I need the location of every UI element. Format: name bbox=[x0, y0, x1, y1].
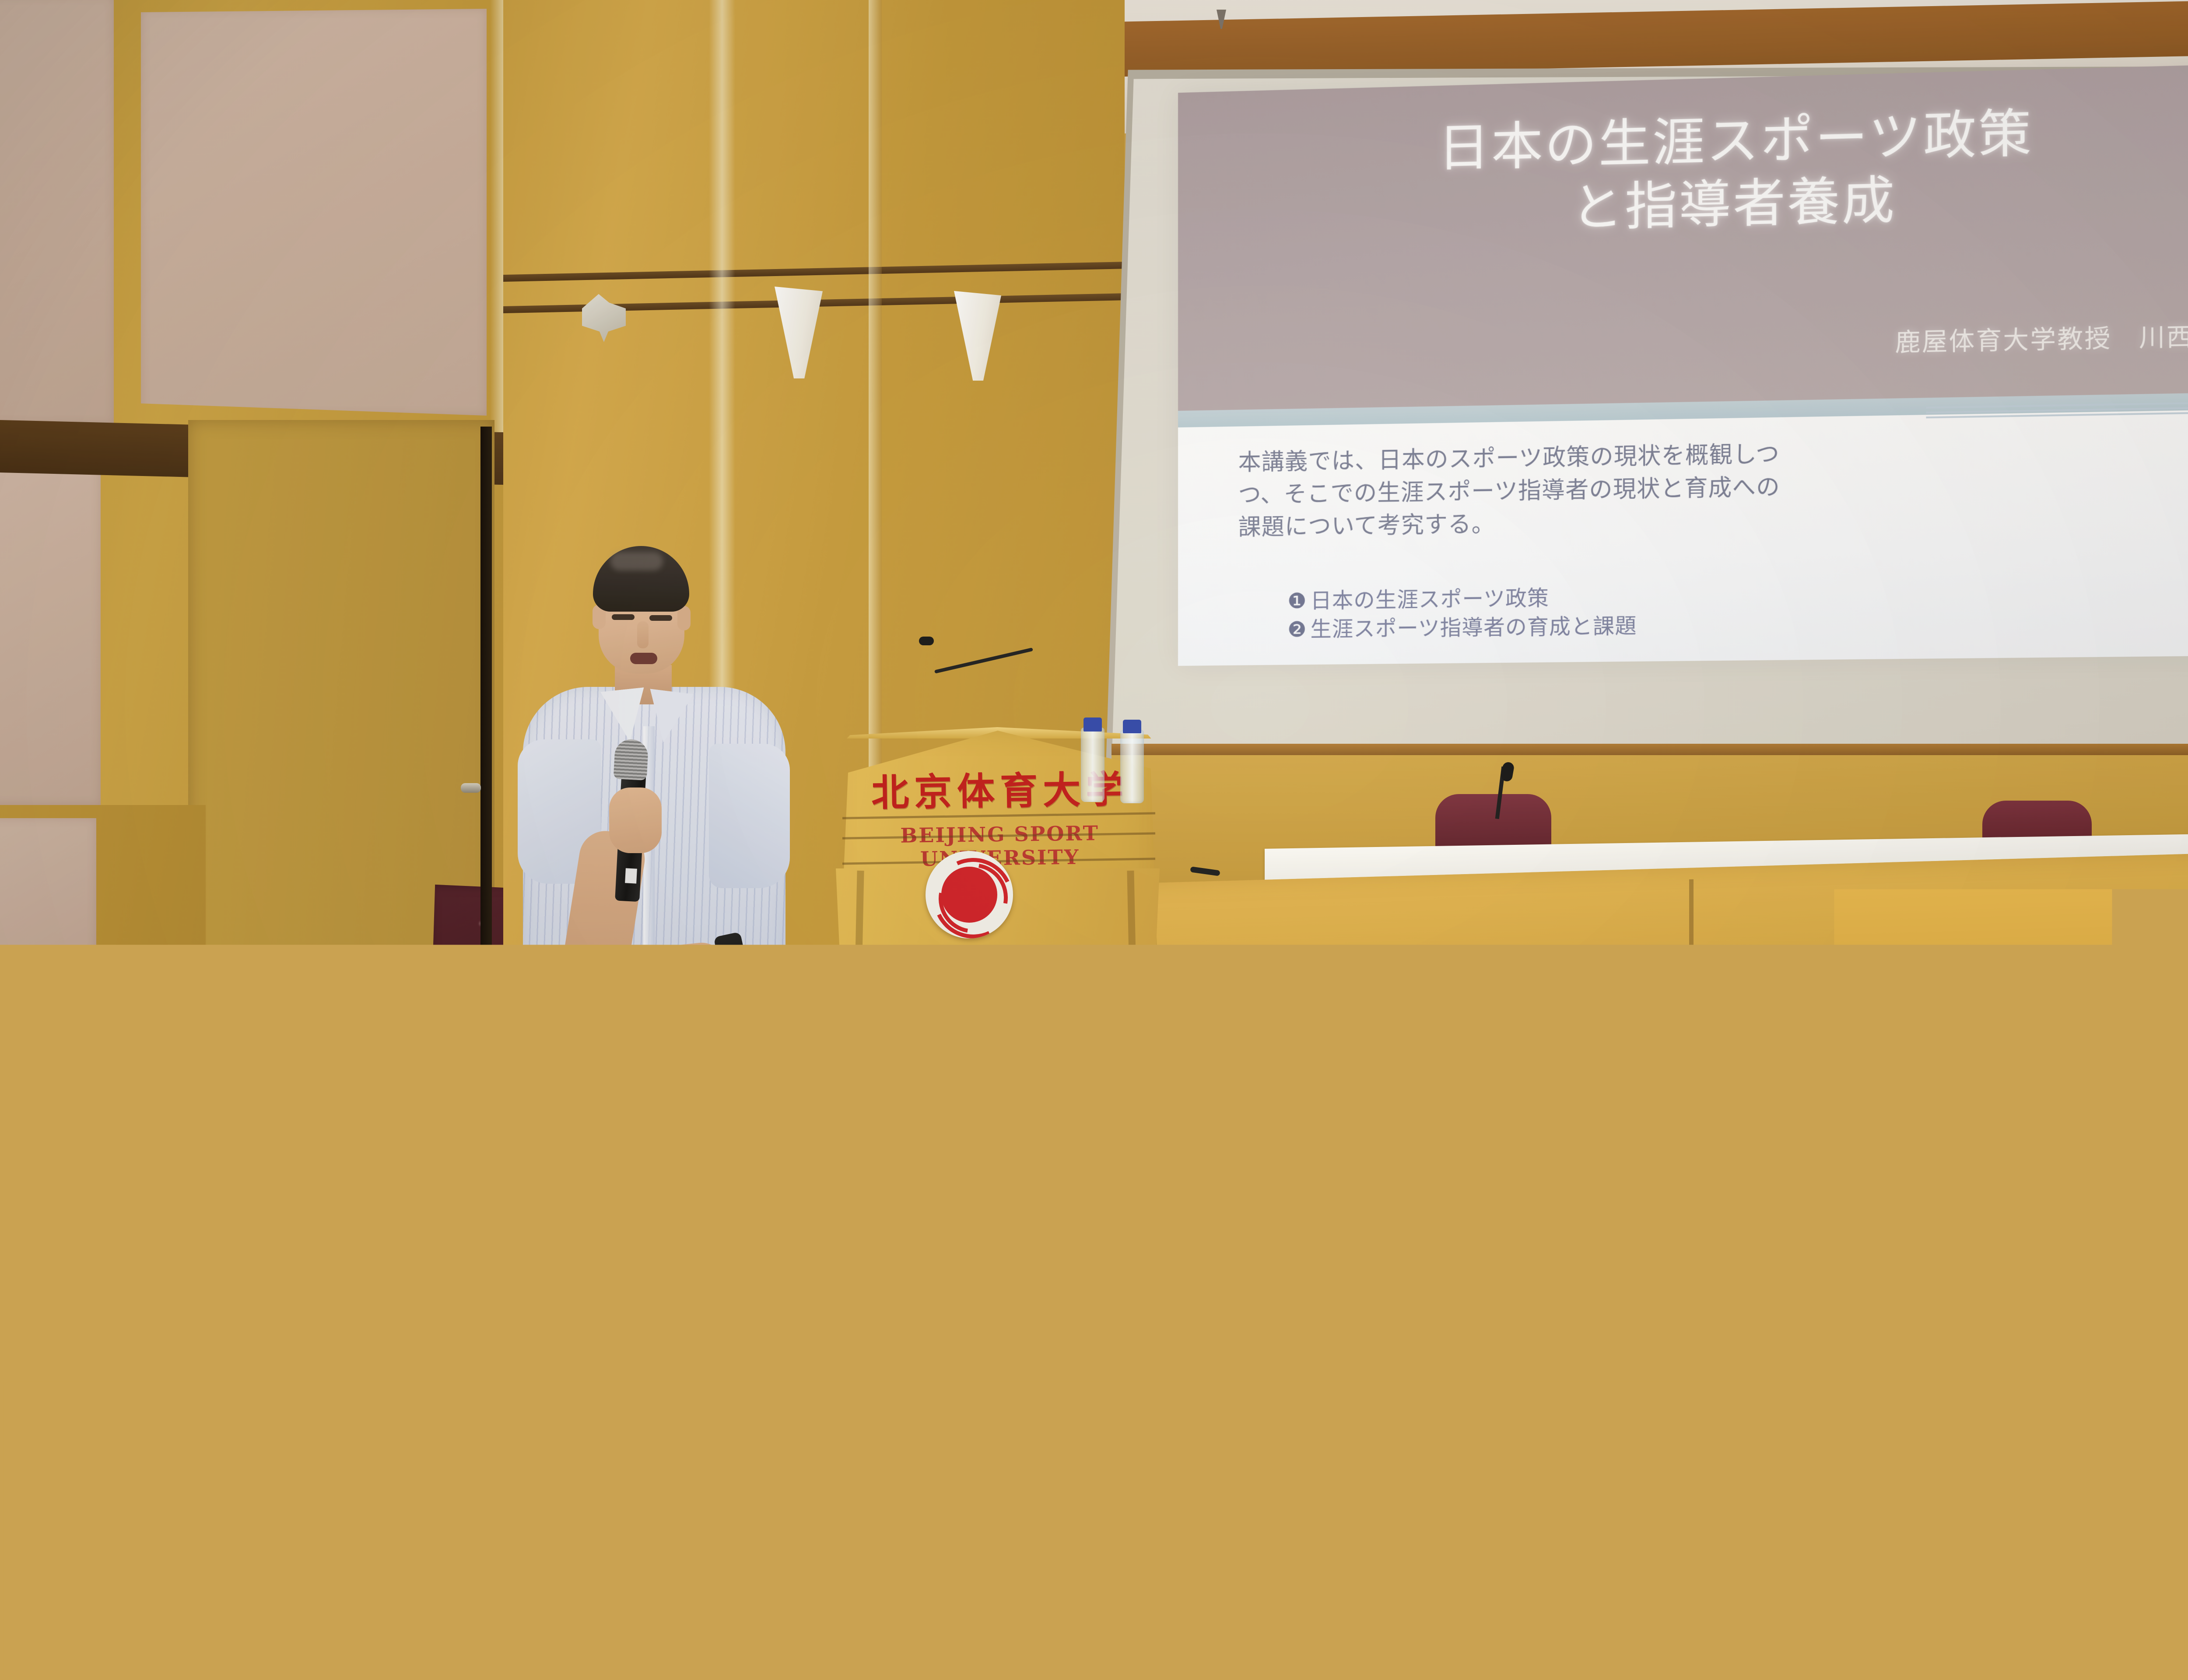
presenter-hair-highlight bbox=[610, 552, 663, 570]
desk-smartphone-black[interactable] bbox=[1394, 1291, 1494, 1355]
bullet-text-2: 生涯スポーツ指導者の育成と課題 bbox=[1311, 614, 1637, 642]
bullet-number-2: ❷ bbox=[1287, 616, 1310, 644]
audience-necklace-p5 bbox=[1120, 1372, 1234, 1393]
audience-seat-front-p5[interactable] bbox=[888, 1496, 1427, 1680]
presenter-nose bbox=[637, 621, 649, 648]
door-gap-shadow bbox=[480, 427, 492, 1004]
audience-seat-right-1[interactable] bbox=[1930, 1194, 2135, 1343]
panel-chair-left[interactable] bbox=[1435, 794, 1551, 851]
water-bottle-cap-2 bbox=[1123, 720, 1141, 733]
water-bottle-2 bbox=[1120, 730, 1144, 803]
acoustic-panel-far-left bbox=[0, 0, 114, 424]
acoustic-panel-left-upper bbox=[141, 9, 487, 416]
slide-abstract: 本講義では、日本のスポーツ政策の現状を概観しつ つ、そこでの生涯スポーツ指導者の… bbox=[1238, 431, 2188, 544]
presenter-eye-left bbox=[612, 614, 635, 620]
slide-presenter-credit: 鹿屋体育大学教授 川西正志 bbox=[1895, 315, 2188, 359]
presenter-eye-right bbox=[649, 615, 672, 621]
acoustic-panel-left-mid bbox=[0, 446, 101, 805]
desk-phone-colorful[interactable] bbox=[312, 1611, 401, 1680]
presenter-hand-holding-microphone bbox=[609, 787, 662, 853]
water-bottle-cap-1 bbox=[1083, 717, 1102, 731]
door-handle[interactable] bbox=[461, 783, 481, 793]
bullet-text-1: 日本の生涯スポーツ政策 bbox=[1311, 586, 1549, 613]
volleyball-keychain-icon bbox=[1339, 1306, 1378, 1345]
slide-agenda-list: ❶日本の生涯スポーツ政策 ❷生涯スポーツ指導者の育成と課題 bbox=[1287, 576, 2188, 644]
audience-head-p6 bbox=[0, 1330, 158, 1680]
stage-back-wall-trim bbox=[1112, 744, 2188, 755]
lecture-hall-scene: 日本の生涯スポーツ政策 と指導者養成 鹿屋体育大学教授 川西正志 本講義では、日… bbox=[0, 0, 2188, 1680]
water-bottle-1 bbox=[1081, 728, 1105, 802]
podium-microphone-icon bbox=[919, 637, 934, 645]
presenter-belt-buckle bbox=[618, 1004, 644, 1021]
microphone-label bbox=[625, 868, 637, 883]
acoustic-panel-left-lower bbox=[0, 818, 96, 1024]
presenter-mouth bbox=[630, 653, 657, 664]
audience-head-p5 bbox=[1063, 1120, 1282, 1365]
microphone-grille-icon bbox=[614, 738, 649, 780]
presenter-sleeve-right bbox=[709, 744, 790, 888]
bullet-number-1: ❶ bbox=[1287, 587, 1310, 616]
projected-slide: 日本の生涯スポーツ政策 と指導者養成 鹿屋体育大学教授 川西正志 本講義では、日… bbox=[1178, 62, 2188, 666]
university-emblem-icon bbox=[926, 851, 1013, 938]
